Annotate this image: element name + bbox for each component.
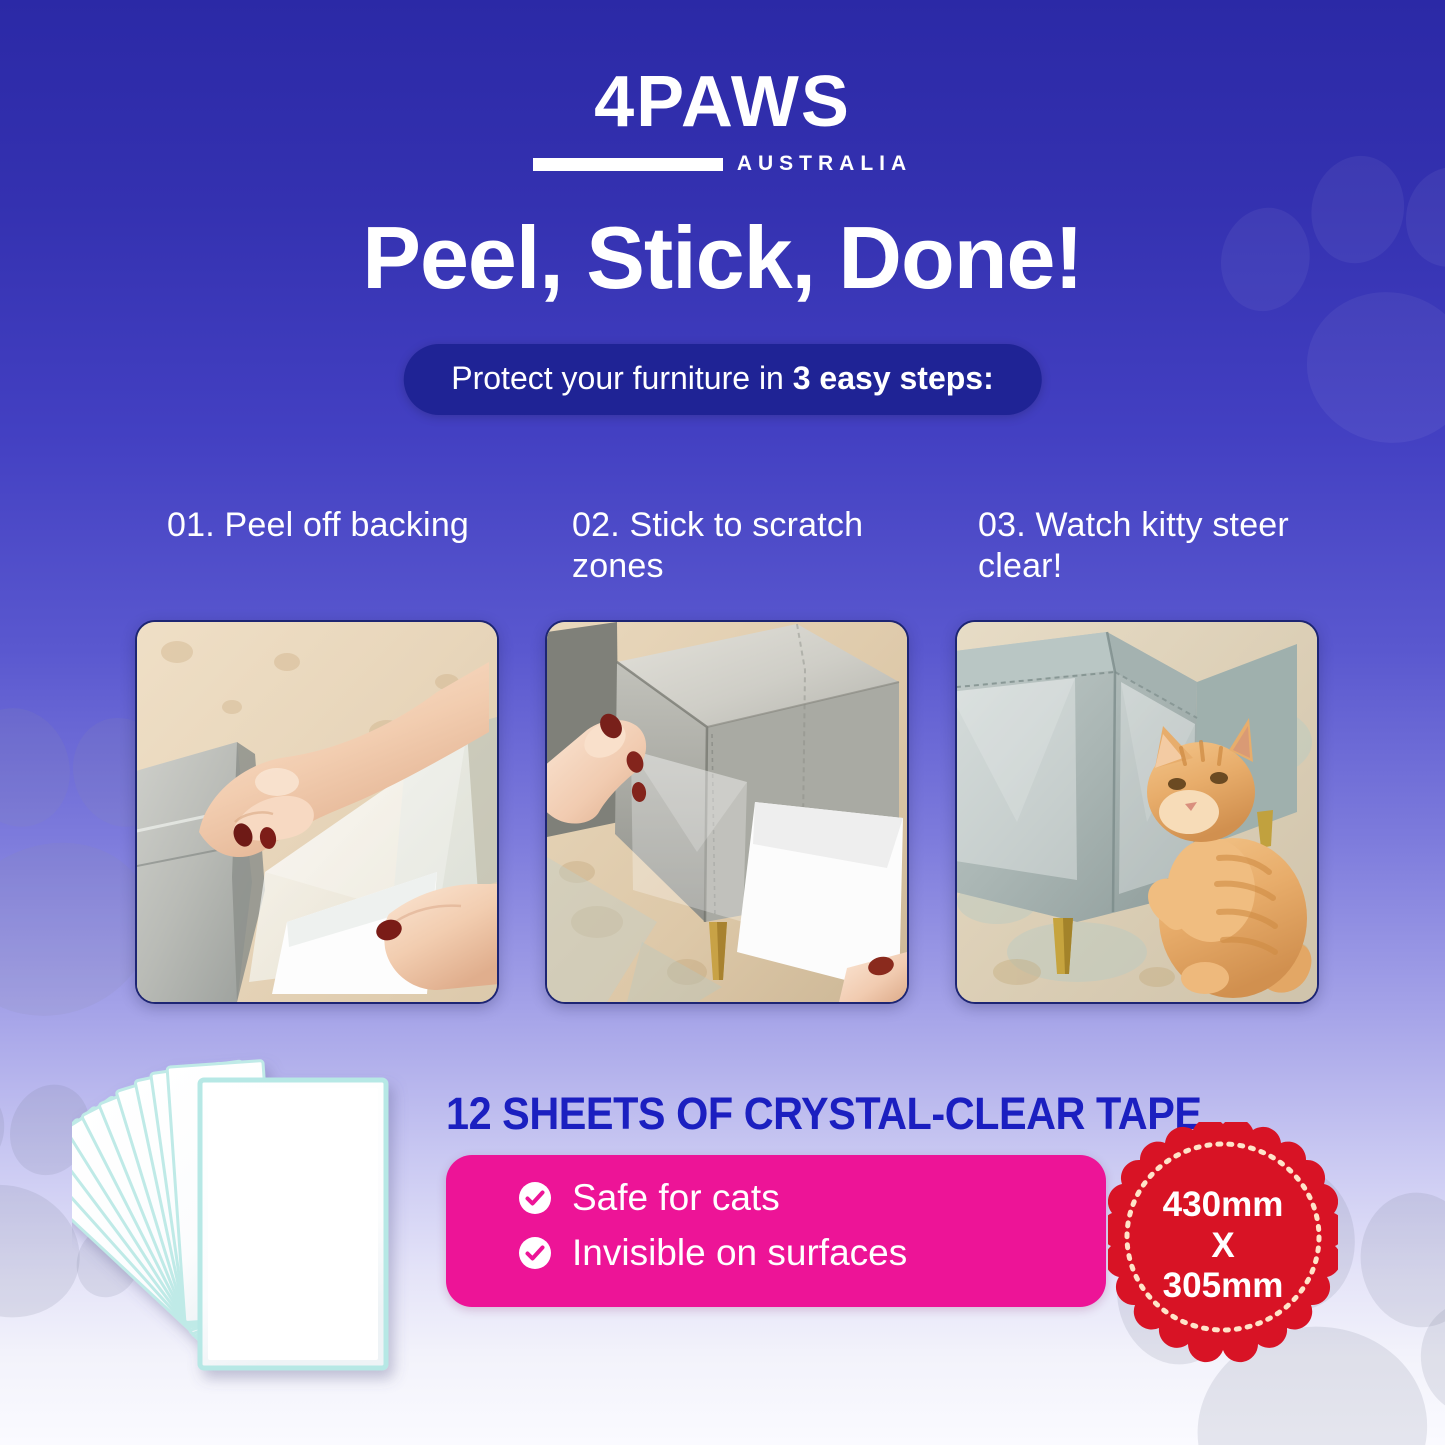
feature-label: Safe for cats <box>572 1177 780 1219</box>
logo-rule <box>533 158 723 171</box>
page-title: Peel, Stick, Done! <box>0 212 1445 304</box>
step-1-label: 01. Peel off backing <box>167 505 539 546</box>
step-3-photo <box>955 620 1319 1004</box>
pack-title: 12 SHEETS OF CRYSTAL-CLEAR TAPE <box>446 1088 1202 1140</box>
step-1-photo <box>135 620 499 1004</box>
dimensions-seal-badge: 430mm X 305mm <box>1108 1122 1338 1370</box>
paw-toe <box>1414 1296 1445 1421</box>
feature-label: Invisible on surfaces <box>572 1232 907 1274</box>
feature-panel: Safe for cats Invisible on surfaces <box>446 1155 1106 1307</box>
subheadline-emphasis: 3 easy steps: <box>793 360 994 396</box>
paw-toe <box>1352 1185 1445 1335</box>
brand-logo: 4PAWS AUSTRALIA <box>0 66 1445 176</box>
check-circle-icon <box>518 1236 552 1270</box>
brand-subline: AUSTRALIA <box>0 152 1445 176</box>
feature-item: Safe for cats <box>518 1177 780 1219</box>
step-3-label: 03. Watch kitty steer clear! <box>978 505 1350 588</box>
brand-name: 4PAWS <box>0 66 1445 138</box>
brand-country: AUSTRALIA <box>737 152 912 176</box>
seal-width: 430mm <box>1163 1187 1284 1224</box>
tape-sheets-illustration <box>72 1028 432 1398</box>
step-1: 01. Peel off backing <box>167 505 539 546</box>
step-2-photo <box>545 620 909 1004</box>
step-2: 02. Stick to scratch zones <box>572 505 944 588</box>
paw-toe <box>0 1077 16 1185</box>
seal-separator: X <box>1211 1228 1234 1265</box>
paw-toe <box>0 694 85 840</box>
feature-item: Invisible on surfaces <box>518 1232 907 1274</box>
step-3: 03. Watch kitty steer clear! <box>978 505 1350 588</box>
poster-canvas: 4PAWS AUSTRALIA Peel, Stick, Done! Prote… <box>0 0 1445 1445</box>
check-circle-icon <box>518 1181 552 1215</box>
subheadline-prefix: Protect your furniture in <box>451 360 792 396</box>
step-2-label: 02. Stick to scratch zones <box>572 505 944 588</box>
subheadline-badge: Protect your furniture in 3 easy steps: <box>403 344 1042 415</box>
seal-height: 305mm <box>1163 1268 1284 1305</box>
seal-text: 430mm X 305mm <box>1108 1122 1338 1370</box>
